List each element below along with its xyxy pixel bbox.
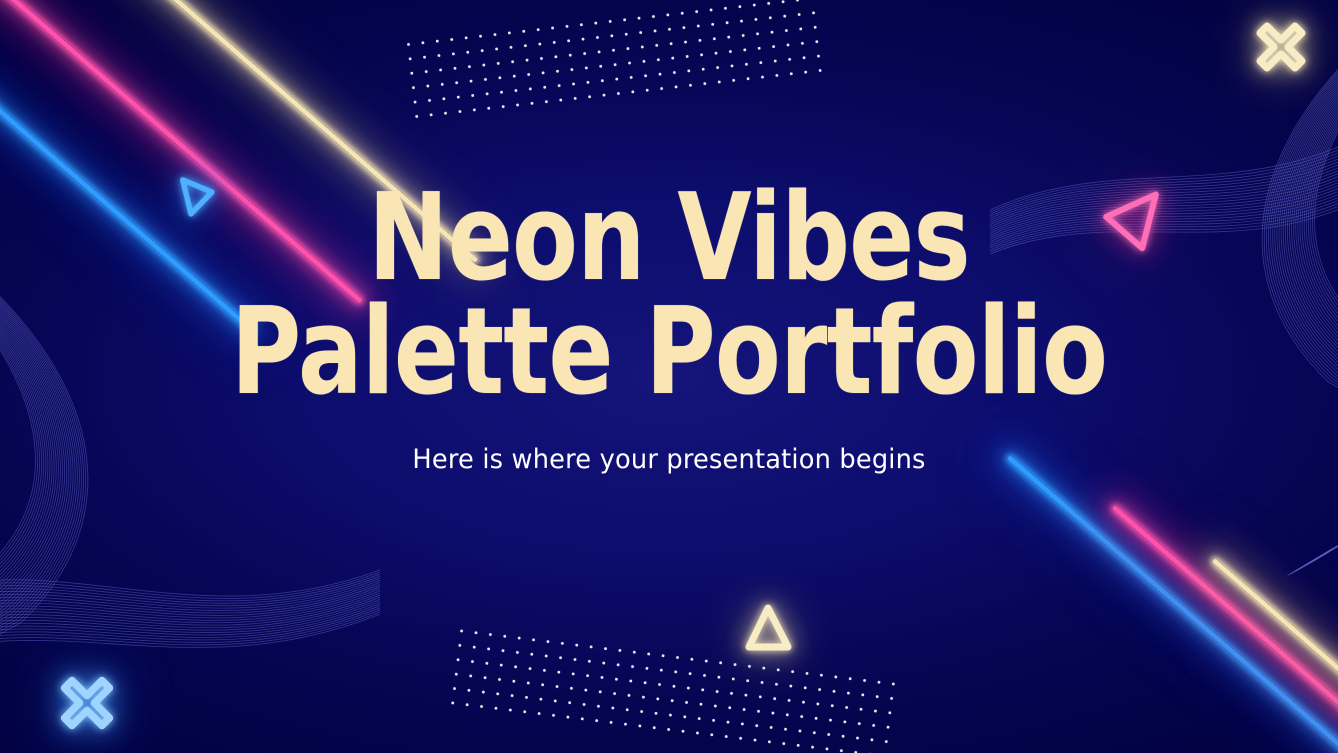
presentation-slide: Neon Vibes Palette Portfolio Here is whe…	[0, 0, 1338, 753]
page-title: Neon Vibes Palette Portfolio	[134, 182, 1204, 410]
slide-content: Neon Vibes Palette Portfolio Here is whe…	[0, 182, 1338, 475]
slide-subtitle: Here is where your presentation begins	[33, 444, 1304, 475]
title-line-2: Palette Portfolio	[134, 296, 1204, 410]
cross-blue-icon	[56, 672, 118, 734]
triangle-cream-icon	[742, 602, 796, 654]
cross-cream-icon	[1252, 18, 1310, 76]
